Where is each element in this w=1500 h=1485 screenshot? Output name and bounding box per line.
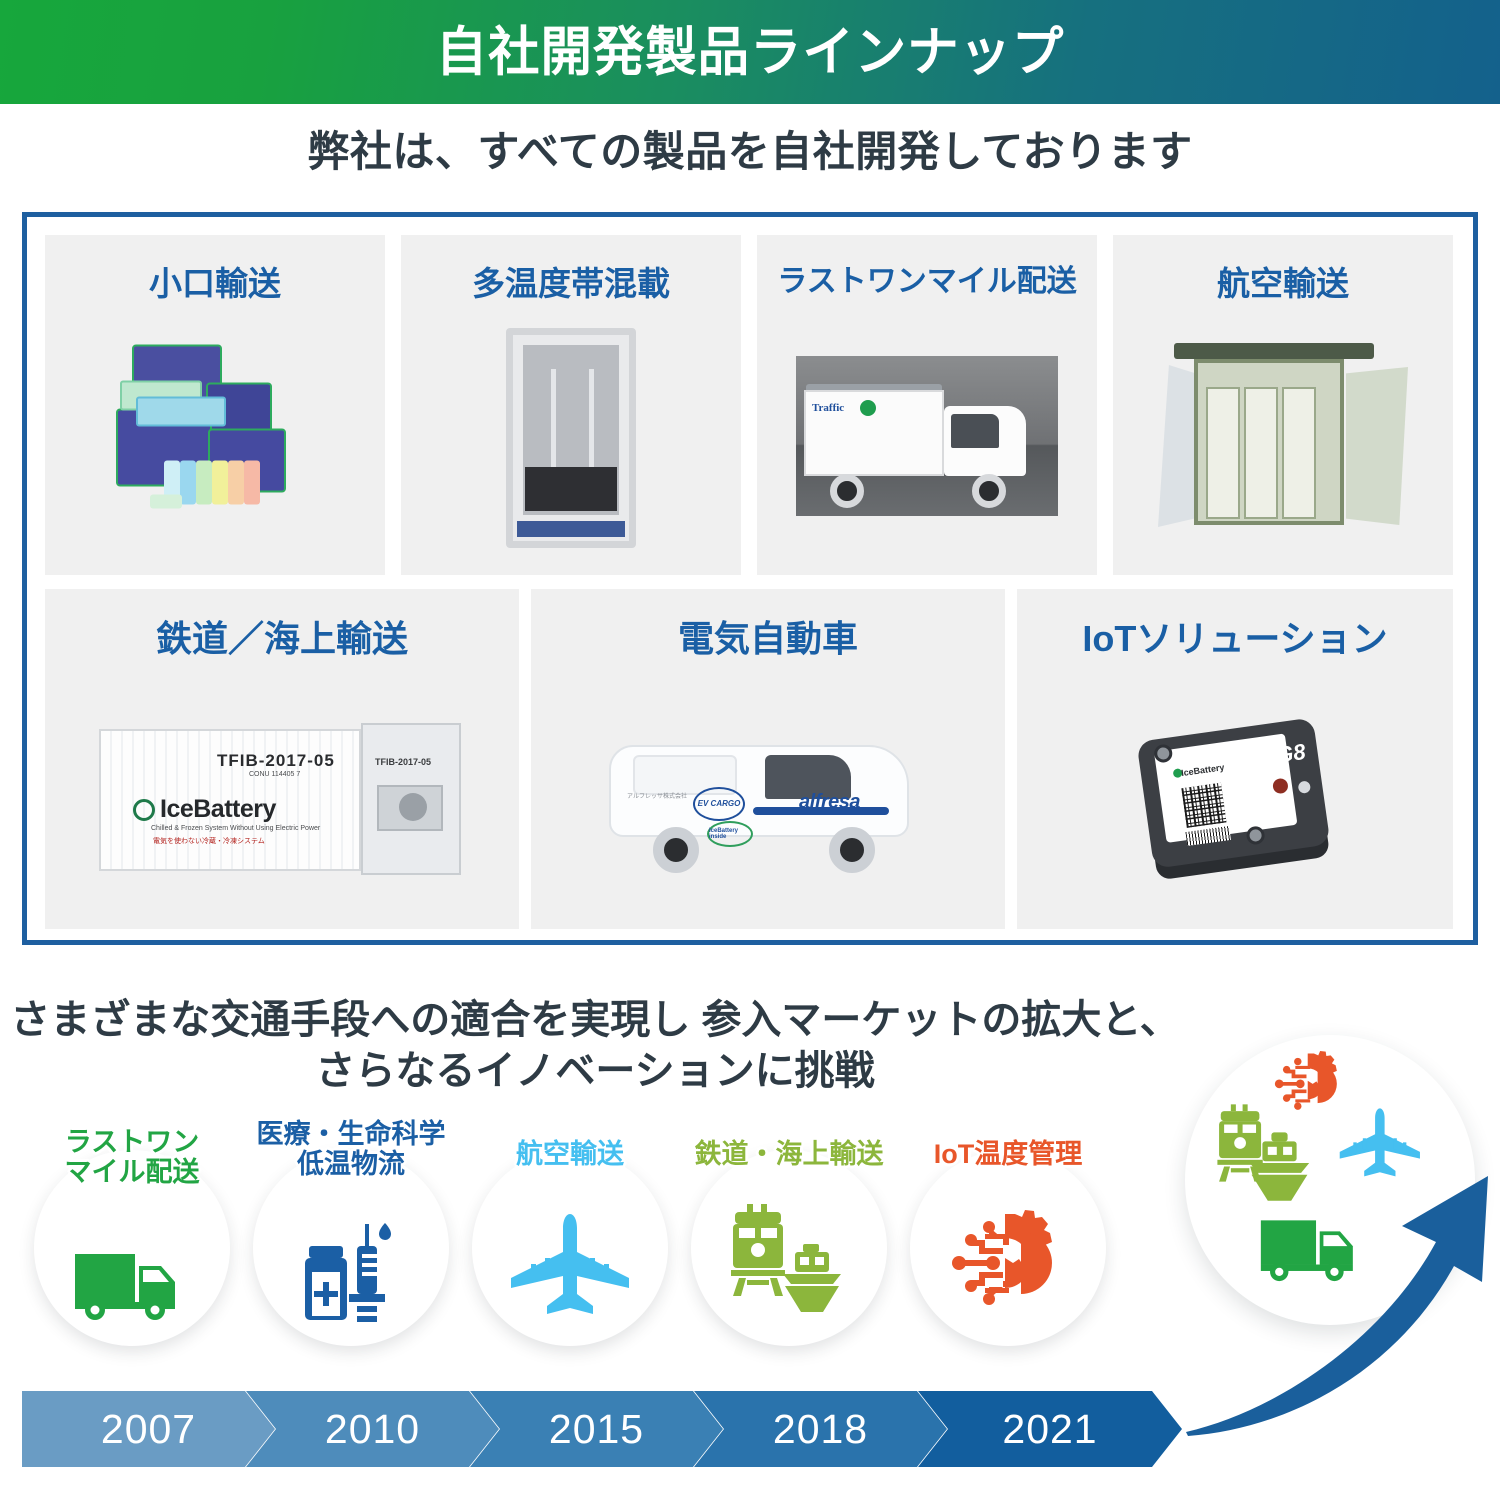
- truck-icon: [1261, 1220, 1353, 1281]
- subtitle-text: 弊社は、すべての製品を自社開発しております: [0, 118, 1500, 179]
- year-chevron[interactable]: 2021: [918, 1391, 1182, 1467]
- multi-temperature-roll-cart-photo: [401, 300, 741, 575]
- ev-cargo-badge: EV CARGO: [693, 787, 745, 821]
- airplane-icon: [1340, 1108, 1420, 1176]
- product-card-title: 鉄道／海上輸送: [156, 621, 408, 657]
- barcode-icon: [1185, 826, 1231, 846]
- air-cargo-container-photo: [1113, 300, 1453, 575]
- bottom-tagline: さまざまな交通手段への適合を実現し 参入マーケットの拡大と、さらなるイノベーショ…: [0, 995, 1190, 1097]
- year-chevron[interactable]: 2010: [246, 1391, 499, 1467]
- milestone-label: 航空輸送: [455, 1140, 685, 1170]
- milestone-label: 鉄道・海上輸送: [674, 1140, 904, 1170]
- timeline-milestones: ラストワン マイル配送 医療・生命科学 低温物流: [0, 1150, 1190, 1365]
- year-chevron[interactable]: 2007: [22, 1391, 275, 1467]
- container-code: TFIB-2017-05: [217, 751, 335, 771]
- iot-gear-circuit-icon: [949, 1210, 1067, 1316]
- summary-circle-all-modes: [1185, 1035, 1475, 1325]
- product-card-small-parcel[interactable]: 小口輸送: [45, 235, 385, 575]
- product-card-electric-vehicle[interactable]: 電気自動車 アルフレッサ株式会社 EV CARGO IceBattery ins…: [531, 589, 1005, 929]
- sensor-model: TG8: [1261, 739, 1307, 771]
- product-grid-frame: 小口輸送: [22, 212, 1478, 945]
- product-card-title: 電気自動車: [678, 621, 858, 657]
- product-card-rail-sea[interactable]: 鉄道／海上輸送 TFIB-2017-05 CONU 114405 7 IceBa…: [45, 589, 519, 929]
- container-tagline-en: Chilled & Frozen System Without Using El…: [151, 825, 320, 832]
- vial-syringe-icon: [299, 1220, 403, 1330]
- container-tagline-ja: 電気を使わない冷蔵・冷凍システム: [153, 836, 265, 846]
- summary-icons-group: [1185, 1035, 1475, 1325]
- train-ship-icon: [721, 1200, 857, 1332]
- year-chevron[interactable]: 2018: [694, 1391, 947, 1467]
- milestone-circle-iot[interactable]: IoT温度管理: [910, 1150, 1106, 1346]
- product-row-1: 小口輸送: [27, 235, 1473, 575]
- led-indicator-icon: [1298, 780, 1312, 794]
- icebattery-inside-badge: IceBattery inside: [707, 821, 753, 847]
- insulated-containers-photo: [45, 300, 385, 575]
- alfresa-brand: alfresa: [799, 791, 860, 814]
- truck-logo-text: Traffic: [812, 402, 844, 414]
- milestone-label: ラストワン マイル配送: [17, 1128, 247, 1187]
- milestone-circle-rail-sea[interactable]: 鉄道・海上輸送: [691, 1150, 887, 1346]
- product-card-title: 小口輸送: [149, 267, 281, 300]
- milestone-circle-medical[interactable]: 医療・生命科学 低温物流: [253, 1150, 449, 1346]
- ship-icon: [783, 1244, 841, 1312]
- year-chevron[interactable]: 2015: [470, 1391, 723, 1467]
- product-card-title: IoTソリューション: [1082, 621, 1387, 657]
- icebattery-brand: IceBattery: [160, 795, 276, 824]
- milestone-label: 医療・生命科学 低温物流: [236, 1120, 466, 1179]
- qr-code-icon: [1181, 783, 1226, 828]
- airplane-icon: [507, 1212, 633, 1324]
- container-end-code: TFIB-2017-05: [375, 757, 431, 767]
- product-card-last-mile[interactable]: ラストワンマイル配送 Traffic: [757, 235, 1097, 575]
- product-lineup-infographic: 自社開発製品ラインナップ 弊社は、すべての製品を自社開発しております 小口輸送: [0, 0, 1500, 1485]
- timeline-year-bar: 2007 2010 2015 2018 2021: [22, 1391, 1182, 1467]
- refrigerated-mini-truck-photo: Traffic: [757, 297, 1097, 575]
- milestone-circle-last-mile[interactable]: ラストワン マイル配送: [34, 1150, 230, 1346]
- product-card-iot-solution[interactable]: IoTソリューション IceBattery TG8: [1017, 589, 1453, 929]
- product-card-title: 多温度帯混載: [472, 267, 670, 300]
- product-card-title: ラストワンマイル配送: [777, 267, 1076, 297]
- truck-icon: [73, 1246, 191, 1324]
- tg8-iot-sensor-photo: IceBattery TG8: [1017, 657, 1453, 929]
- icebattery-logo-icon: [133, 799, 155, 821]
- milestone-circle-air[interactable]: 航空輸送: [472, 1150, 668, 1346]
- iot-gear-circuit-icon: [1275, 1051, 1337, 1110]
- icebattery-brand: IceBattery: [1180, 762, 1224, 778]
- product-card-multi-temperature[interactable]: 多温度帯混載: [401, 235, 741, 575]
- ev-company-text: アルフレッサ株式会社: [627, 791, 687, 800]
- container-code-small: CONU 114405 7: [249, 771, 300, 778]
- train-icon: [731, 1204, 785, 1296]
- product-card-title: 航空輸送: [1217, 267, 1349, 300]
- milestone-label: IoT温度管理: [893, 1140, 1123, 1170]
- page-title: 自社開発製品ラインナップ: [436, 26, 1065, 79]
- ev-cargo-van-photo: アルフレッサ株式会社 EV CARGO IceBattery inside al…: [531, 657, 1005, 929]
- product-card-air-transport[interactable]: 航空輸送: [1113, 235, 1453, 575]
- reefer-container-photo: TFIB-2017-05 CONU 114405 7 IceBattery Ch…: [45, 657, 519, 929]
- page-header-banner: 自社開発製品ラインナップ: [0, 0, 1500, 104]
- product-row-2: 鉄道／海上輸送 TFIB-2017-05 CONU 114405 7 IceBa…: [27, 589, 1473, 929]
